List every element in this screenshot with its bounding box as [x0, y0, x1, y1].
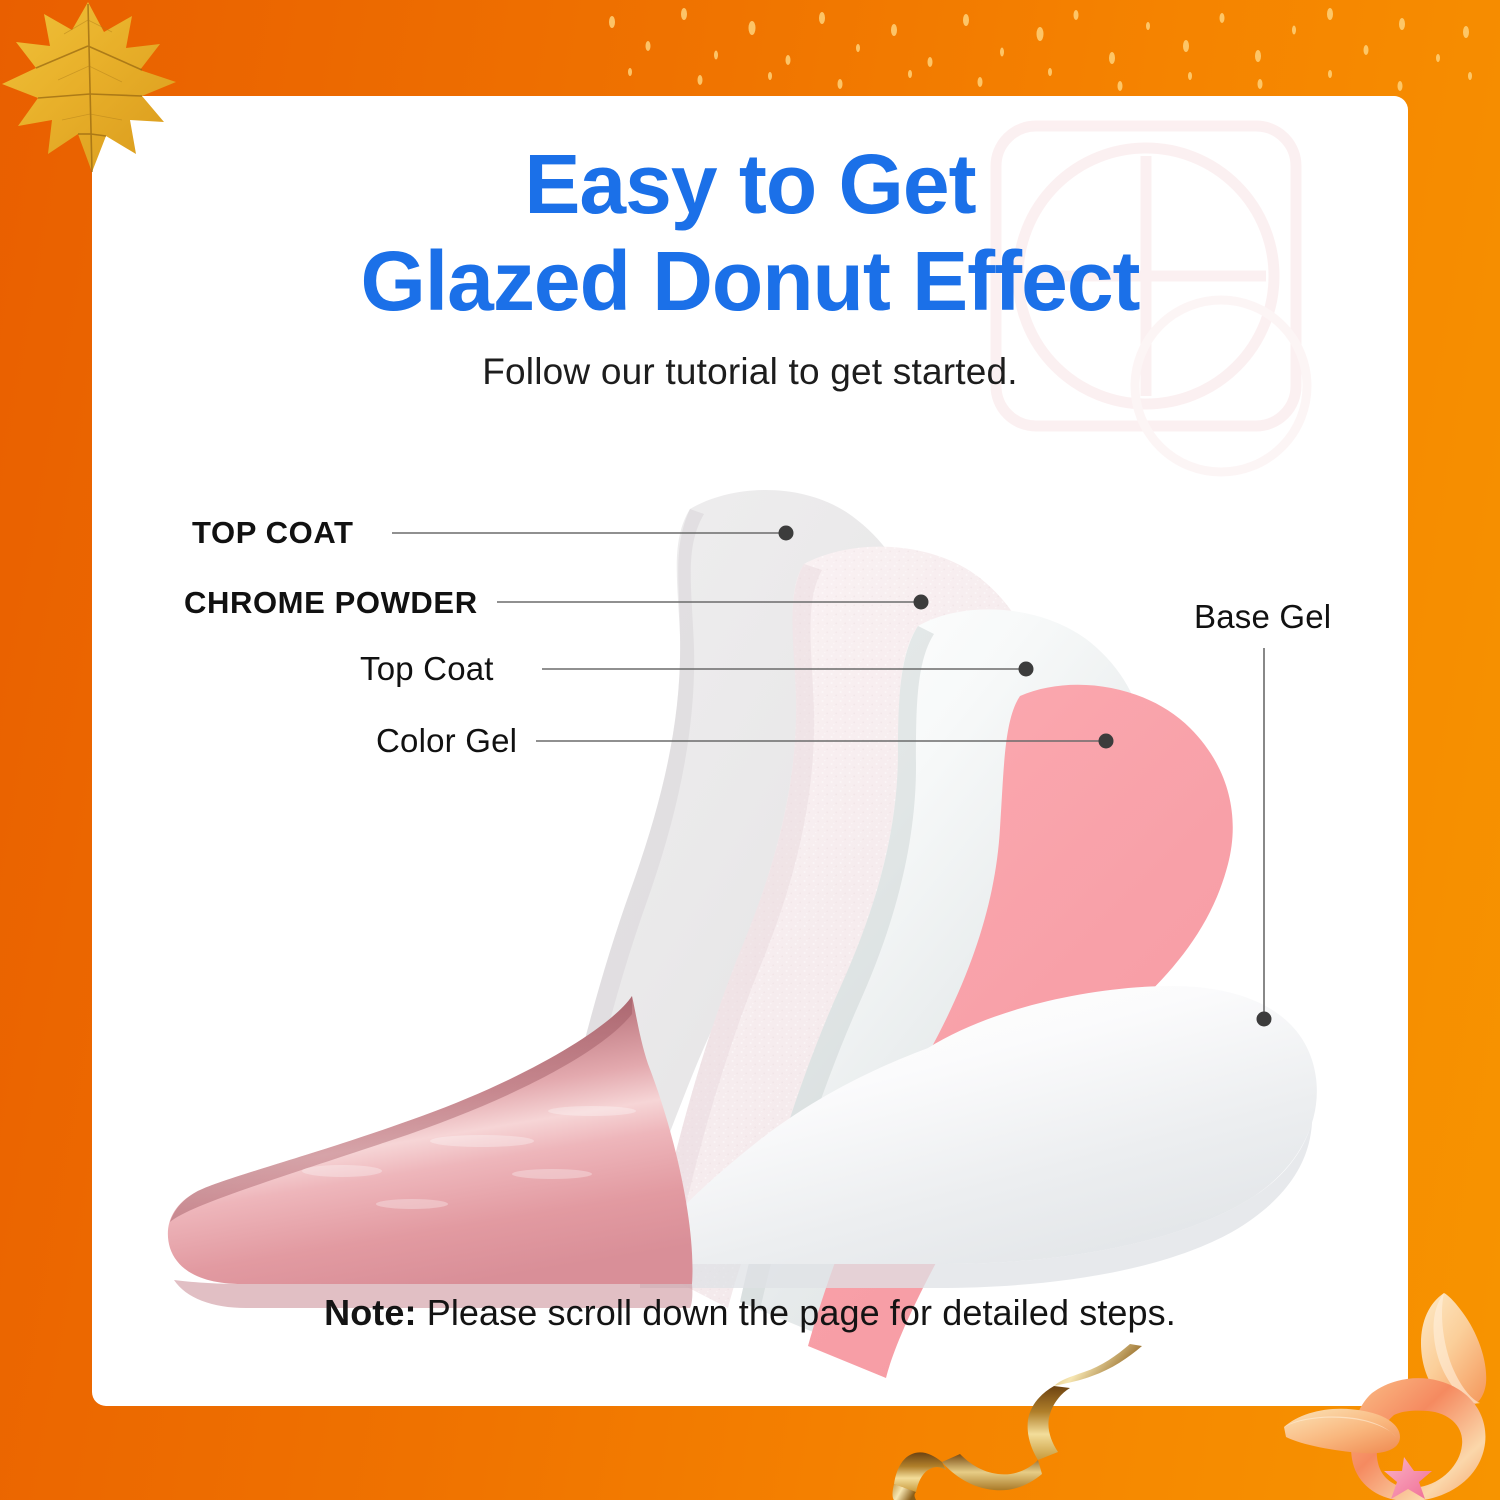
callout-label-top-coat: Top Coat	[360, 650, 494, 688]
note-text: Note: Please scroll down the page for de…	[92, 1292, 1408, 1334]
note-prefix: Note:	[324, 1292, 417, 1333]
callout-label-chrome-powder: CHROME POWDER	[184, 585, 478, 621]
callout-label-base-gel: Base Gel	[1194, 598, 1331, 636]
poster-canvas: Easy to Get Glazed Donut Effect Follow o…	[0, 0, 1500, 1500]
nail-layer-diagram: TOP COAT CHROME POWDER Top Coat Color Ge…	[92, 96, 1408, 1406]
content-card: Easy to Get Glazed Donut Effect Follow o…	[92, 96, 1408, 1406]
callout-label-top-coat-final: TOP COAT	[192, 515, 354, 551]
layer-nail-rose-gold	[168, 996, 693, 1308]
callout-label-color-gel: Color Gel	[376, 722, 517, 760]
note-body: Please scroll down the page for detailed…	[417, 1292, 1176, 1333]
